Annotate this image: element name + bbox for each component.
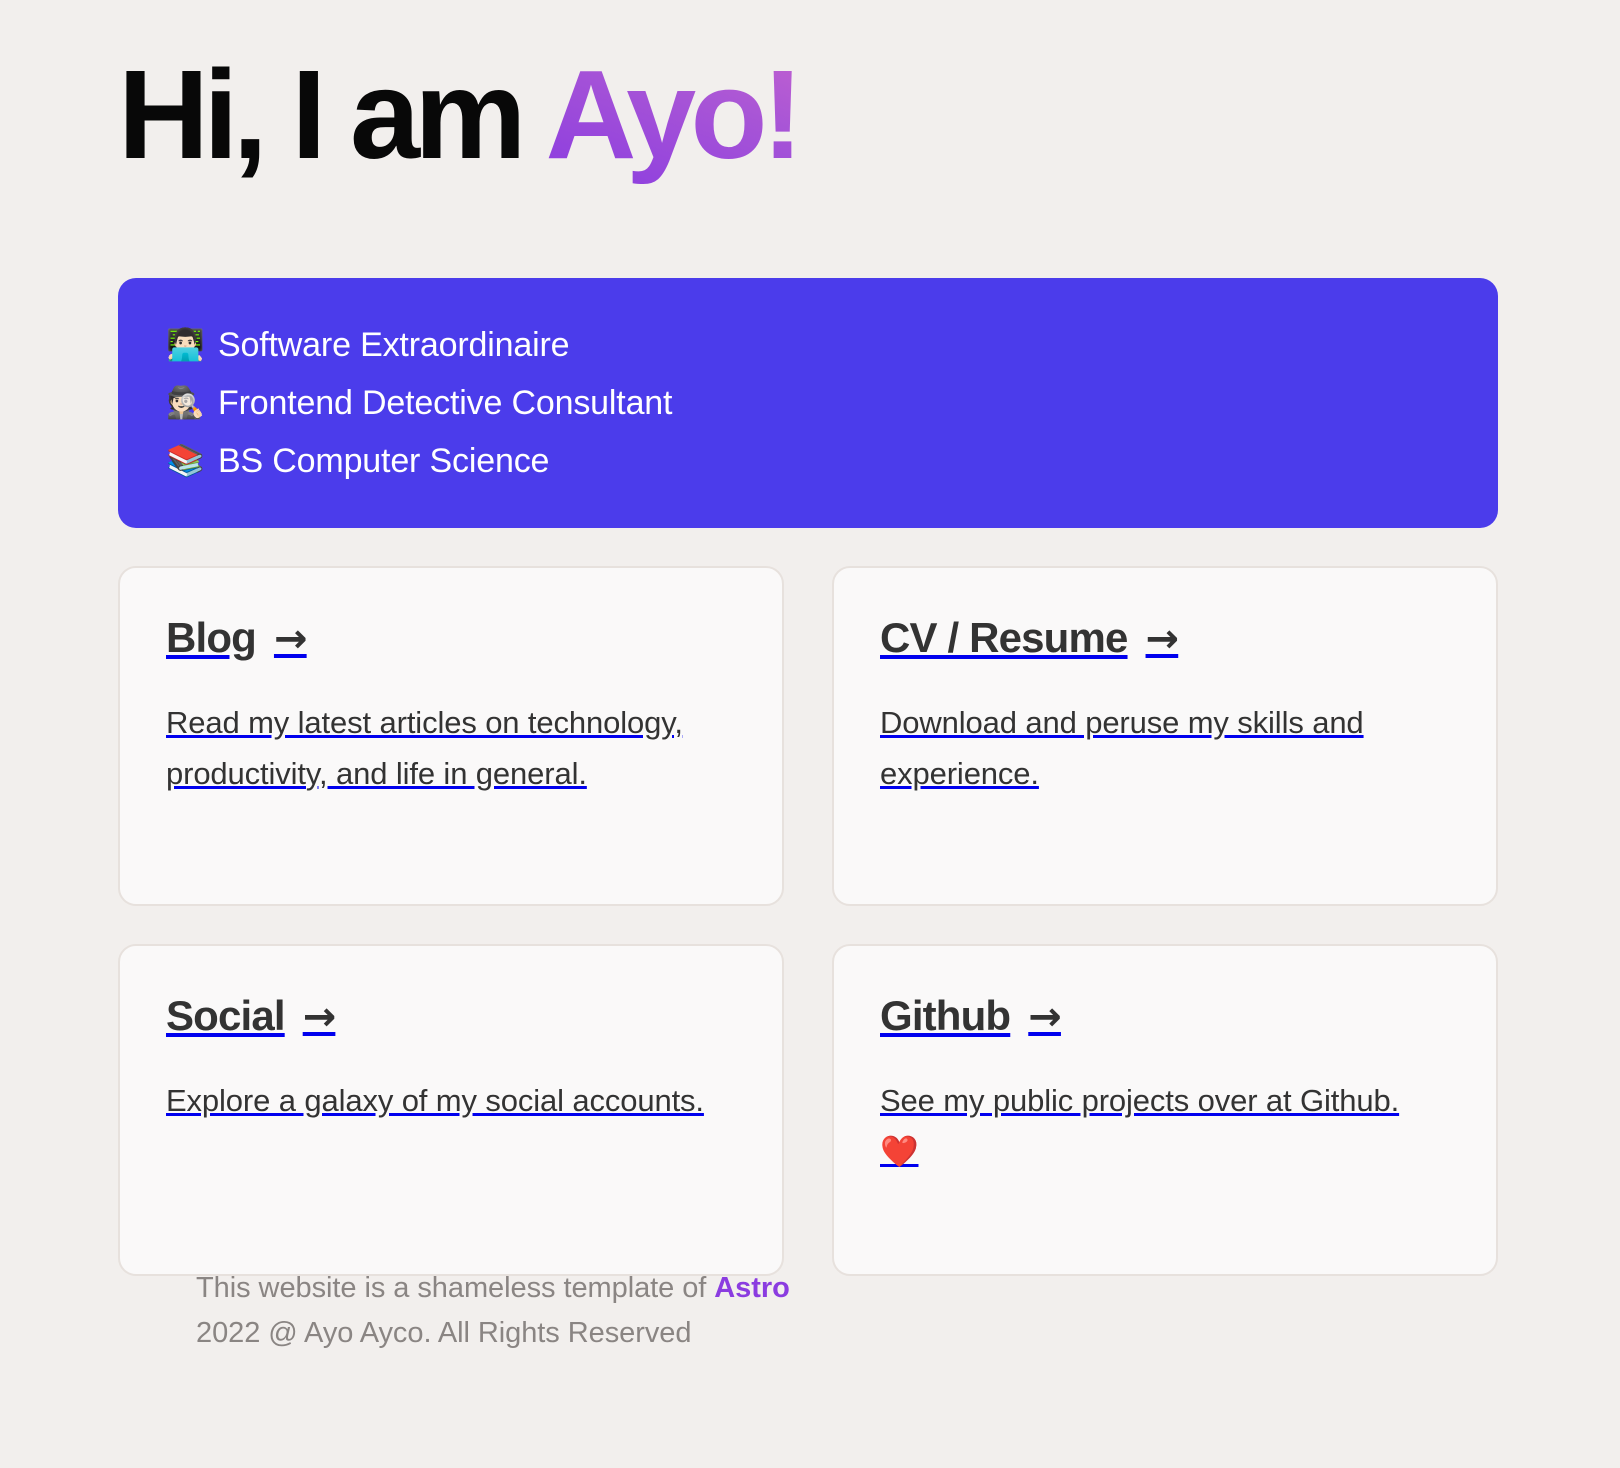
card-description: Download and peruse my skills and experi… [880, 698, 1440, 798]
list-item: 👨🏻‍💻 Software Extraordinaire [166, 316, 1450, 374]
astro-link[interactable]: Astro [714, 1272, 789, 1304]
card-title: Social → [166, 992, 736, 1040]
list-item-label: BS Computer Science [218, 432, 549, 490]
intro-banner-list: 👨🏻‍💻 Software Extraordinaire 🕵🏻 Frontend… [166, 316, 1450, 490]
card-github[interactable]: Github → See my public projects over at … [832, 944, 1498, 1276]
card-cv-resume[interactable]: CV / Resume → Download and peruse my ski… [832, 566, 1498, 906]
card-social[interactable]: Social → Explore a galaxy of my social a… [118, 944, 784, 1276]
arrow-right-icon: → [303, 997, 336, 1037]
man-technologist-emoji: 👨🏻‍💻 [166, 330, 204, 361]
card-title-text: CV / Resume [880, 614, 1128, 662]
intro-banner: 👨🏻‍💻 Software Extraordinaire 🕵🏻 Frontend… [118, 278, 1498, 528]
site-footer: This website is a shameless template of … [196, 1266, 1396, 1356]
card-description: Read my latest articles on technology, p… [166, 698, 726, 798]
link-card-grid: Blog → Read my latest articles on techno… [118, 566, 1498, 1276]
card-title-text: Github [880, 992, 1010, 1040]
page-title-name: Ayo! [545, 44, 798, 185]
page-title-greeting: Hi, I am [118, 44, 545, 185]
card-description: See my public projects over at Github. ❤… [880, 1076, 1440, 1176]
list-item: 📚 BS Computer Science [166, 432, 1450, 490]
card-title-text: Social [166, 992, 285, 1040]
card-title: CV / Resume → [880, 614, 1450, 662]
detective-emoji: 🕵🏻 [166, 388, 204, 419]
list-item-label: Software Extraordinaire [218, 316, 569, 374]
books-emoji: 📚 [166, 446, 204, 477]
arrow-right-icon: → [274, 619, 307, 659]
card-blog[interactable]: Blog → Read my latest articles on techno… [118, 566, 784, 906]
card-title: Blog → [166, 614, 736, 662]
hero-section: Hi, I am Ayo! [118, 46, 1508, 185]
homepage-root: Hi, I am Ayo! 👨🏻‍💻 Software Extraordinai… [0, 0, 1620, 1468]
card-title-text: Blog [166, 614, 256, 662]
card-description: Explore a galaxy of my social accounts. [166, 1076, 726, 1126]
arrow-right-icon: → [1028, 997, 1061, 1037]
footer-copyright-line: 2022 @ Ayo Ayco. All Rights Reserved [196, 1311, 1396, 1356]
page-title: Hi, I am Ayo! [118, 46, 1508, 185]
list-item-label: Frontend Detective Consultant [218, 374, 672, 432]
list-item: 🕵🏻 Frontend Detective Consultant [166, 374, 1450, 432]
arrow-right-icon: → [1146, 619, 1179, 659]
footer-credit-text: This website is a shameless template of [196, 1272, 714, 1304]
card-title: Github → [880, 992, 1450, 1040]
footer-credit-line: This website is a shameless template of … [196, 1266, 1396, 1311]
